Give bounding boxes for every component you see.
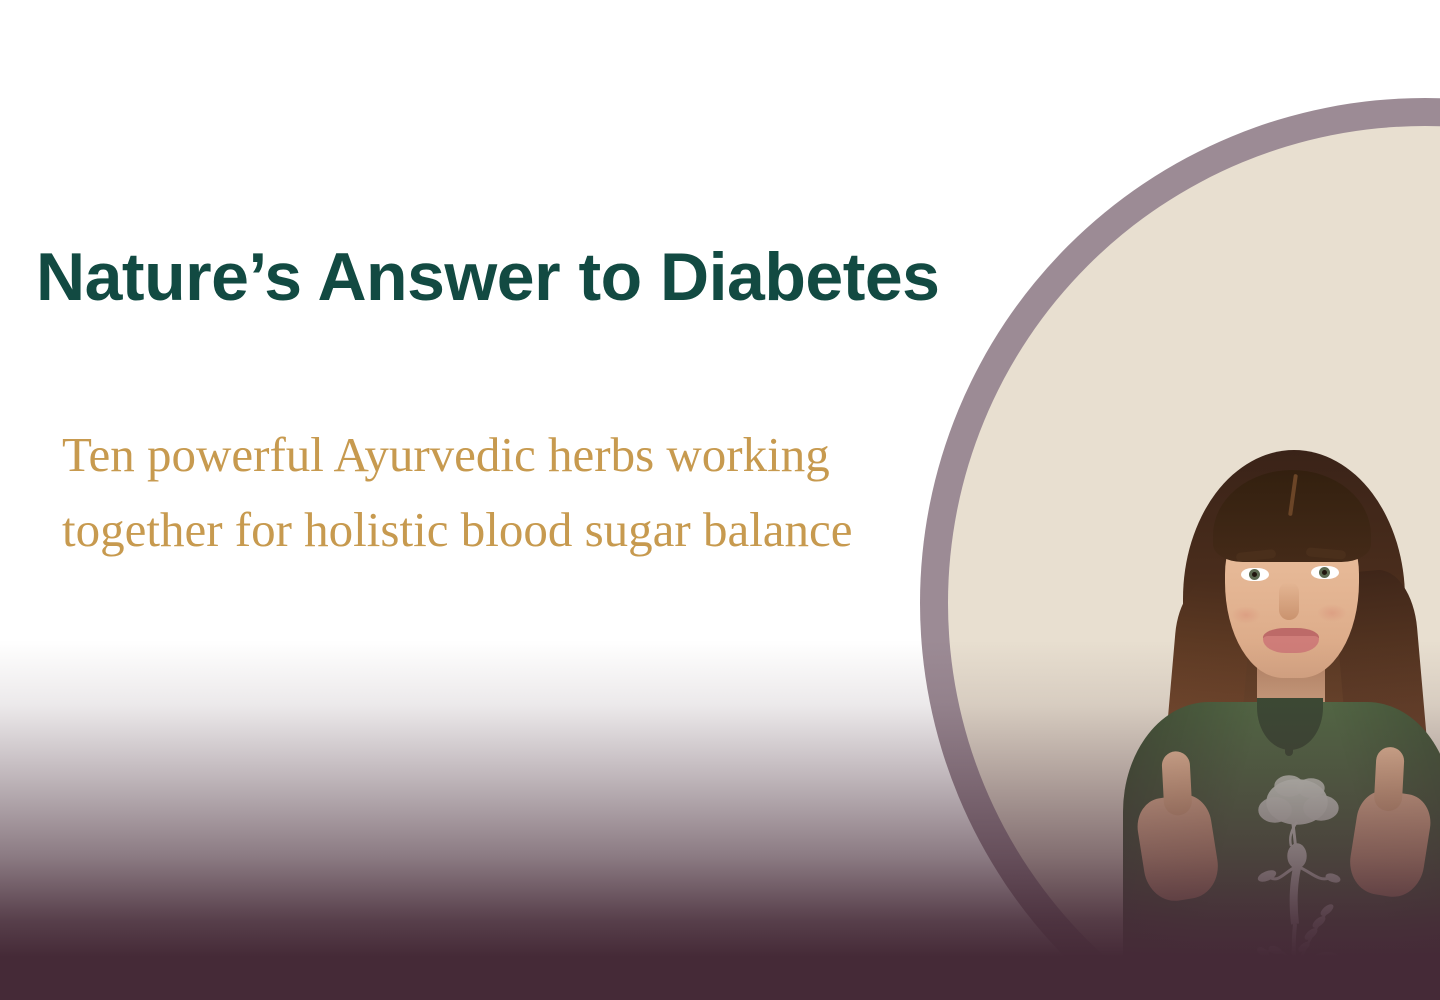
eye-left [1241,568,1269,581]
cheek-left [1231,606,1261,624]
cheek-right [1317,604,1347,622]
tshirt-botanical-print-icon [1231,760,1363,1000]
thumb-right [1373,746,1404,811]
nose [1279,582,1299,620]
slide-subtitle: Ten powerful Ayurvedic herbs working tog… [62,417,862,567]
thumb-left [1161,751,1192,816]
tshirt-collar-notch [1285,716,1293,756]
photo-bottom-fade [1105,990,1440,1000]
slide-title: Nature’s Answer to Diabetes [36,242,940,313]
presenter-photo-inner [1105,430,1440,1000]
eye-right [1311,566,1339,579]
presenter-photo [1105,430,1440,1000]
slide-canvas: Nature’s Answer to Diabetes Ten powerful… [0,0,1440,1000]
